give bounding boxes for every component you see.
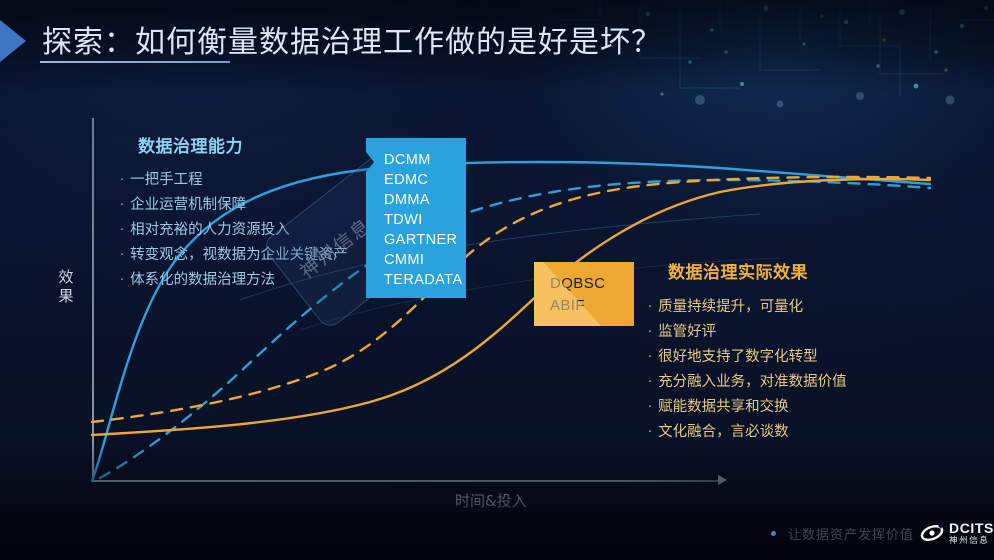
logo-subtitle: 神州信息 — [949, 537, 994, 546]
watermark-text: 神州信息 — [294, 211, 377, 284]
standard-item-2: DMMA — [384, 190, 466, 210]
capability-bullet-text: 相对充裕的人力资源投入 — [130, 222, 290, 238]
effect-bullet-text: 充分融入业务，对准数据价值 — [658, 374, 847, 390]
dcits-swoosh-icon — [920, 522, 944, 544]
effect-bullet-1: ·监管好评 — [648, 320, 948, 345]
effect-heading: 数据治理实际效果 — [668, 258, 948, 283]
bullet-dot-icon: · — [648, 375, 652, 390]
bullet-dot-icon: · — [648, 300, 652, 315]
logo-name: DCITS — [949, 521, 994, 535]
capability-bullet-text: 企业运营机制保障 — [130, 197, 246, 213]
bullet-dot-icon: · — [648, 350, 652, 365]
metrics-callout-orange[interactable]: DQBSC ABIF — [534, 262, 634, 326]
capability-bullet-text: 一把手工程 — [130, 172, 203, 188]
bullet-dot-icon: · — [120, 273, 124, 288]
standard-item-1: EDMC — [384, 170, 466, 190]
effect-bullet-0: ·质量持续提升，可量化 — [648, 295, 948, 320]
bullet-dot-icon: · — [120, 198, 124, 213]
effect-bullet-text: 很好地支持了数字化转型 — [658, 349, 818, 365]
standard-item-0: DCMM — [384, 150, 466, 170]
bullet-dot-icon: · — [120, 248, 124, 263]
footer-tagline: 让数据资产发挥价值 — [788, 524, 914, 543]
effect-bullet-2: ·很好地支持了数字化转型 — [648, 345, 948, 370]
effect-bullet-text: 监管好评 — [658, 324, 716, 340]
standard-item-6: TERADATA — [384, 270, 466, 290]
bullet-dot-icon: · — [648, 425, 652, 440]
standard-item-5: CMMI — [384, 250, 466, 270]
effect-bullet-text: 文化融合，言必谈数 — [658, 424, 789, 440]
slide-canvas: 探索：如何衡量数据治理工作做的是好是坏？ 效果 时间&投入 数据治理能力 ·一把… — [0, 0, 994, 560]
standard-item-3: TDWI — [384, 210, 466, 230]
metric-item-1: ABIF — [550, 295, 634, 317]
metric-item-0: DQBSC — [550, 273, 634, 295]
effect-block: 数据治理实际效果 ·质量持续提升，可量化 ·监管好评 ·很好地支持了数字化转型 … — [648, 258, 948, 445]
logo-text-group: DCITS 神州信息 — [949, 521, 994, 546]
bullet-dot-icon: · — [120, 223, 124, 238]
bullet-dot-icon: · — [120, 173, 124, 188]
company-logo: DCITS 神州信息 — [920, 521, 994, 546]
capability-heading: 数据治理能力 — [138, 132, 390, 157]
footer-bullet-icon — [771, 531, 776, 536]
standard-item-4: GARTNER — [384, 230, 466, 250]
standards-callout-blue[interactable]: DCMM EDMC DMMA TDWI GARTNER CMMI TERADAT… — [366, 138, 466, 298]
effect-bullet-4: ·赋能数据共享和交换 — [648, 395, 948, 420]
bullet-dot-icon: · — [648, 325, 652, 340]
bullet-dot-icon: · — [648, 400, 652, 415]
effect-bullet-text: 质量持续提升，可量化 — [658, 299, 803, 315]
effect-bullet-3: ·充分融入业务，对准数据价值 — [648, 370, 948, 395]
effect-bullet-text: 赋能数据共享和交换 — [658, 399, 789, 415]
capability-bullet-text: 体系化的数据治理方法 — [130, 272, 275, 288]
